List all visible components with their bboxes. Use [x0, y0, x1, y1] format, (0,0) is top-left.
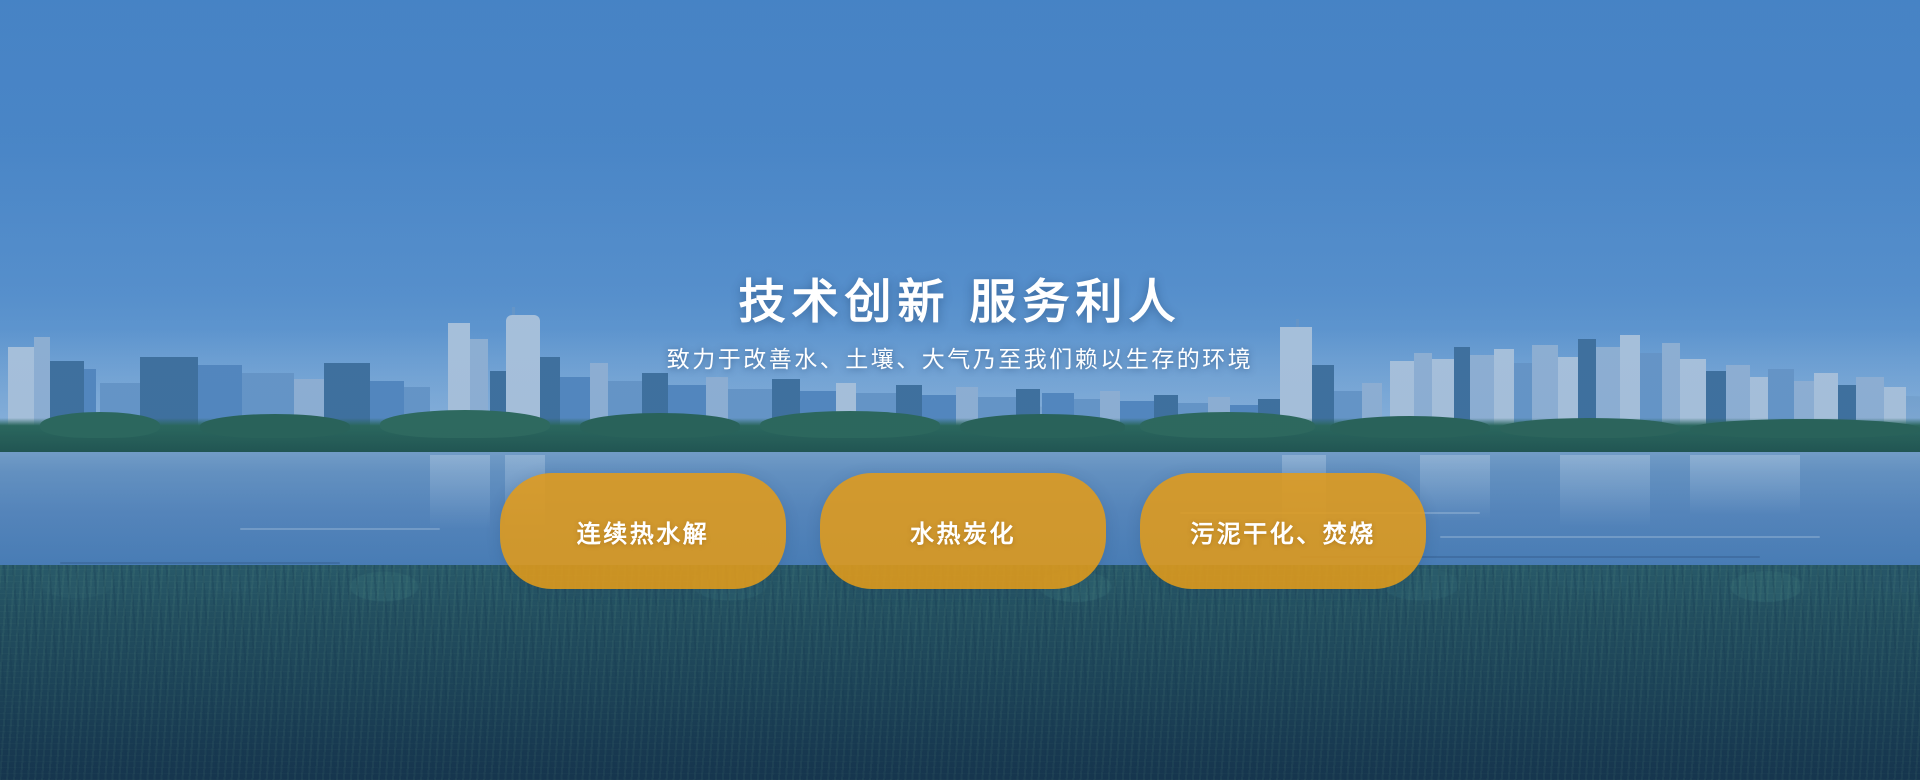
- foliage-blue-tint: [0, 565, 1920, 780]
- treeline-bump: [960, 414, 1125, 438]
- headline-wrap: 技术创新 服务利人: [0, 278, 1920, 325]
- treeline-bump: [40, 412, 160, 438]
- cta-button-sludge-drying-incineration[interactable]: 污泥干化、焚烧: [1140, 473, 1426, 589]
- cta-button-label: 污泥干化、焚烧: [1190, 514, 1376, 549]
- cta-button-hydrothermal-carbonization[interactable]: 水热炭化: [820, 473, 1106, 589]
- page-title: 技术创新 服务利人: [0, 278, 1920, 325]
- cta-button-continuous-thermal-hydrolysis[interactable]: 连续热水解: [500, 473, 786, 589]
- treeline-bump: [380, 410, 550, 438]
- treeline-bump: [1330, 416, 1490, 438]
- subtitle-wrap: 致力于改善水、土壤、大气乃至我们赖以生存的环境: [0, 348, 1920, 371]
- treeline-bump: [580, 413, 740, 438]
- page-subtitle: 致力于改善水、土壤、大气乃至我们赖以生存的环境: [0, 348, 1920, 371]
- treeline-bump: [1690, 419, 1920, 438]
- treeline-bump: [760, 411, 940, 438]
- treeline-bump: [200, 414, 350, 438]
- cta-button-label: 连续热水解: [577, 514, 710, 549]
- cta-button-row: 连续热水解 水热炭化 污泥干化、焚烧: [0, 473, 1920, 589]
- treeline-bump: [1500, 418, 1680, 438]
- hero-banner: 技术创新 服务利人 致力于改善水、土壤、大气乃至我们赖以生存的环境 连续热水解 …: [0, 0, 1920, 780]
- cta-button-label: 水热炭化: [910, 514, 1016, 549]
- treeline-bump: [1140, 412, 1315, 438]
